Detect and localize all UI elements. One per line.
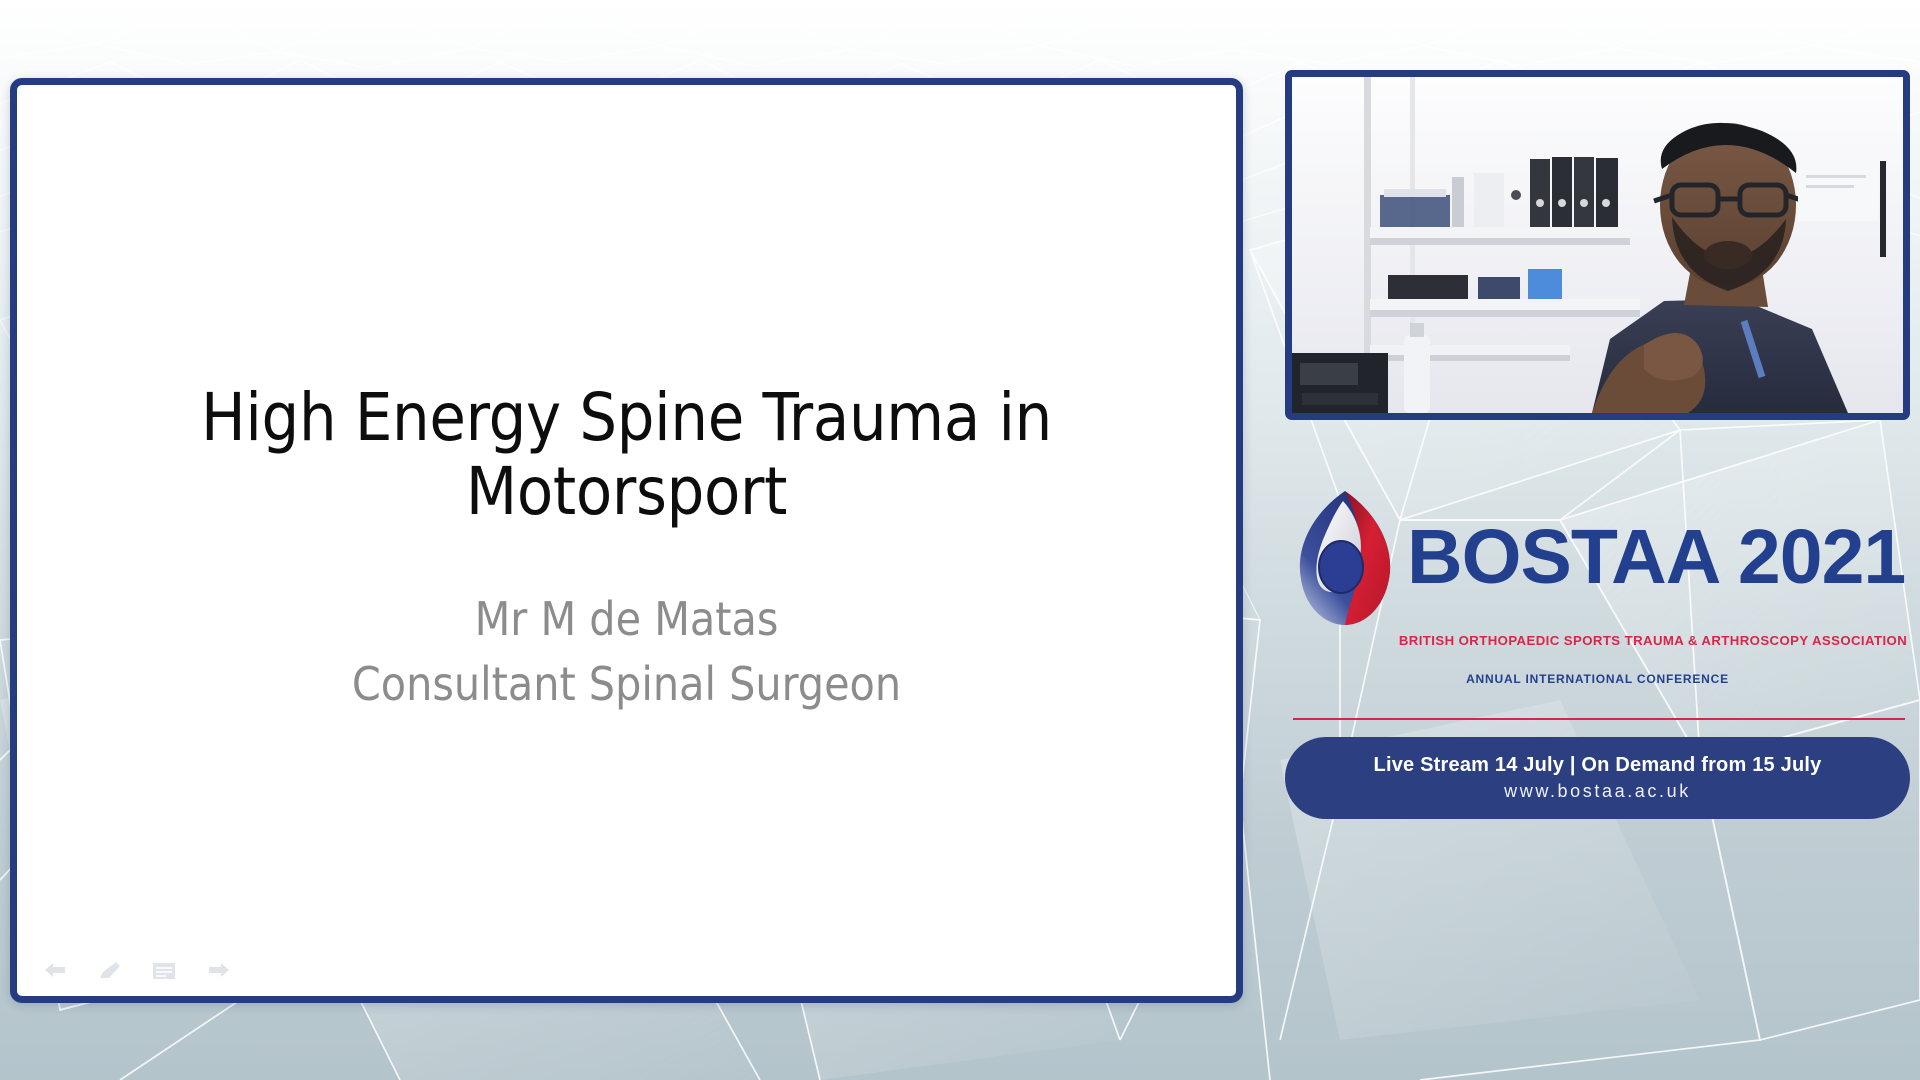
presenter-toolbar[interactable] [43, 960, 231, 982]
right-panel: BOSTAA 2021 BRITISH ORTHOPAEDIC SPORTS T… [1285, 70, 1910, 1010]
slide-subtitle-line-1: Mr M de Matas [352, 587, 901, 652]
bostaa-logo-row: BOSTAA 2021 [1291, 485, 1911, 630]
slide-menu-icon[interactable] [151, 960, 177, 982]
stream-info-banner: Live Stream 14 July | On Demand from 15 … [1285, 737, 1910, 819]
bostaa-logo-icon [1291, 487, 1399, 629]
presentation-slide[interactable]: High Energy Spine Trauma in Motorsport M… [10, 78, 1243, 1003]
slide-subtitle: Mr M de Matas Consultant Spinal Surgeon [352, 587, 901, 718]
previous-slide-icon[interactable] [43, 960, 69, 982]
conference-title: ANNUAL INTERNATIONAL CONFERENCE [1285, 672, 1910, 686]
bostaa-wordmark: BOSTAA 2021 [1407, 519, 1905, 596]
website-url[interactable]: www.bostaa.ac.uk [1504, 781, 1691, 802]
webcam-video-tile[interactable] [1285, 70, 1910, 420]
bostaa-strapline: BRITISH ORTHOPAEDIC SPORTS TRAUMA & ARTH… [1397, 633, 1909, 648]
slide-content: High Energy Spine Trauma in Motorsport M… [17, 85, 1236, 996]
slide-subtitle-line-2: Consultant Spinal Surgeon [352, 652, 901, 717]
next-slide-icon[interactable] [205, 960, 231, 982]
slide-title: High Energy Spine Trauma in Motorsport [177, 381, 1077, 529]
webcam-scene [1292, 77, 1903, 413]
divider-rule [1293, 718, 1905, 720]
stream-dates: Live Stream 14 July | On Demand from 15 … [1374, 754, 1822, 777]
conference-branding: BOSTAA 2021 BRITISH ORTHOPAEDIC SPORTS T… [1285, 475, 1910, 955]
presentation-stage: High Energy Spine Trauma in Motorsport M… [0, 0, 1920, 1080]
pen-icon[interactable] [97, 960, 123, 982]
